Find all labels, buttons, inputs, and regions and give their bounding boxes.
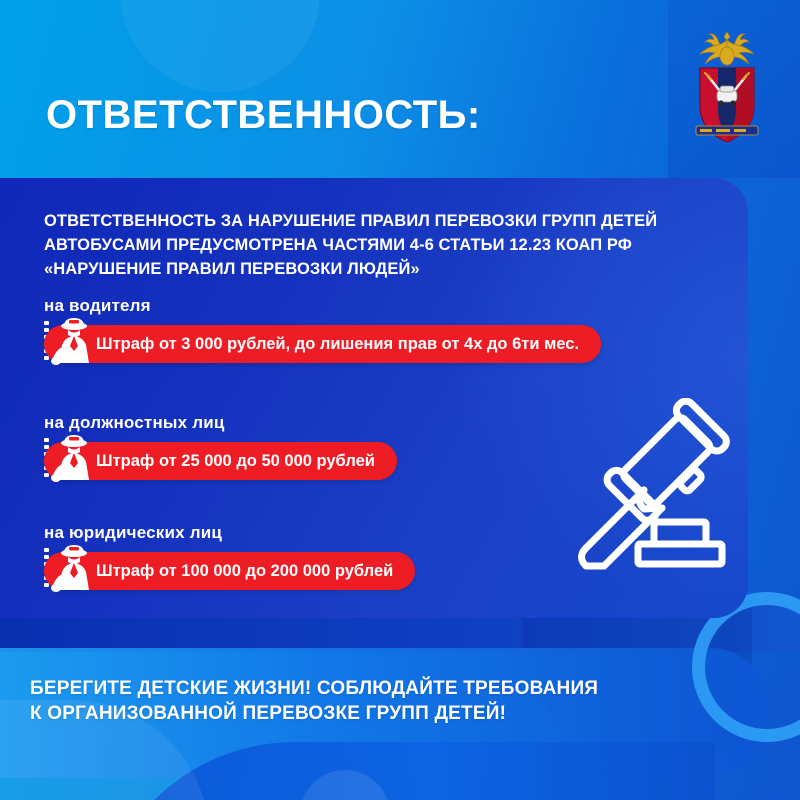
- police-officer-icon: [50, 540, 98, 598]
- section-label-driver: на водителя: [44, 296, 601, 316]
- gibdd-police-emblem-icon: [684, 26, 770, 148]
- footer-message: БЕРЕГИТЕ ДЕТСКИЕ ЖИЗНИ! СОБЛЮДАЙТЕ ТРЕБО…: [30, 676, 730, 727]
- decorative-circle-bottom: [300, 770, 390, 800]
- poster-canvas: ОТВЕТСТВЕННОСТЬ:: [0, 0, 800, 800]
- penalty-pill-driver: Штраф от 3 000 рублей, до лишения прав о…: [44, 325, 601, 363]
- section-label-legal-entities: на юридических лиц: [44, 523, 415, 543]
- police-officer-icon: [50, 313, 98, 371]
- section-officials: на должностных лиц: [44, 413, 397, 480]
- footer-line-2: К ОРГАНИЗОВАННОЙ ПЕРЕВОЗКЕ ГРУПП ДЕТЕЙ!: [30, 701, 730, 726]
- judge-gavel-icon: [578, 398, 774, 588]
- police-officer-icon: [50, 430, 98, 488]
- decorative-bottom-round: [95, 742, 715, 800]
- section-driver: на водителя: [44, 296, 601, 363]
- section-legal-entities: на юридических лиц: [44, 523, 415, 590]
- header: ОТВЕТСТВЕННОСТЬ:: [0, 0, 800, 178]
- penalty-row-legal-entities: Штраф от 100 000 до 200 000 рублей: [44, 552, 415, 590]
- penalty-pill-legal-entities: Штраф от 100 000 до 200 000 рублей: [44, 552, 415, 590]
- footer-line-1: БЕРЕГИТЕ ДЕТСКИЕ ЖИЗНИ! СОБЛЮДАЙТЕ ТРЕБО…: [30, 676, 730, 701]
- penalty-row-officials: Штраф от 25 000 до 50 000 рублей: [44, 442, 397, 480]
- penalty-row-driver: Штраф от 3 000 рублей, до лишения прав о…: [44, 325, 601, 363]
- page-title: ОТВЕТСТВЕННОСТЬ:: [46, 95, 481, 135]
- intro-paragraph: ОТВЕТСТВЕННОСТЬ ЗА НАРУШЕНИЕ ПРАВИЛ ПЕРЕ…: [44, 210, 704, 282]
